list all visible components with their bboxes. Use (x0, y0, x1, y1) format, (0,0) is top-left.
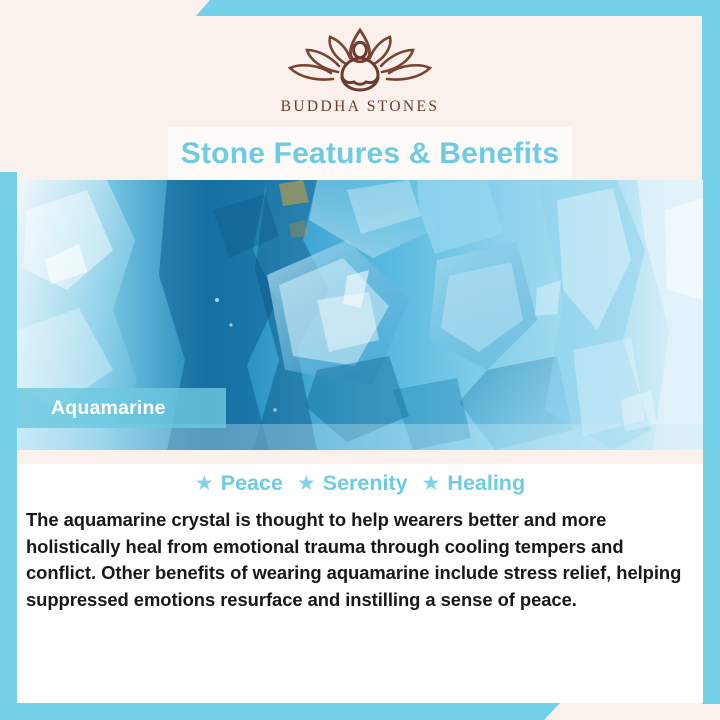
benefit-label: Healing (447, 471, 525, 496)
frame-top-accent (196, 0, 720, 16)
cream-divider (17, 450, 703, 464)
frame-left-accent (0, 172, 17, 720)
description-text: The aquamarine crystal is thought to hel… (26, 507, 698, 613)
frame-bottom-accent (0, 703, 560, 720)
star-icon: ★ (297, 473, 316, 494)
benefit-label: Peace (221, 471, 283, 496)
star-icon: ★ (422, 473, 441, 494)
content-panel: ★ Peace ★ Serenity ★ Healing The aquamar… (17, 464, 703, 703)
stone-name-label: Aquamarine (17, 397, 166, 420)
title-banner: Stone Features & Benefits (168, 127, 572, 181)
lotus-meditation-icon (276, 24, 444, 94)
brand-logo: BUDDHA STONES (0, 24, 720, 124)
star-icon: ★ (195, 473, 214, 494)
benefit-item-peace: ★ Peace (195, 471, 283, 496)
benefit-item-healing: ★ Healing (422, 471, 525, 496)
benefit-label: Serenity (323, 471, 408, 496)
benefits-row: ★ Peace ★ Serenity ★ Healing (17, 464, 703, 496)
stone-name-badge: Aquamarine (17, 388, 226, 428)
infographic-card: BUDDHA STONES Stone Features & Benefits (0, 0, 720, 720)
page-title: Stone Features & Benefits (181, 137, 559, 171)
brand-name: BUDDHA STONES (281, 98, 440, 116)
benefit-item-serenity: ★ Serenity (297, 471, 408, 496)
